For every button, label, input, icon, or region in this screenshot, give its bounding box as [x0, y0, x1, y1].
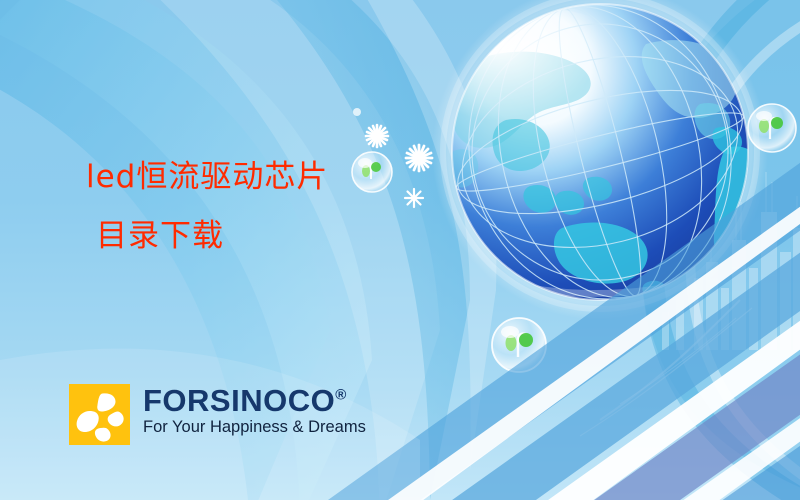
eco-bubble-small: [352, 152, 392, 192]
pinwheel-clover-icon: [69, 384, 130, 445]
logo-tagline: For Your Happiness & Dreams: [143, 418, 366, 437]
logo-text-block: FORSINOCO® For Your Happiness & Dreams: [143, 384, 366, 437]
eco-bubble-right: [748, 104, 796, 152]
company-logo[interactable]: FORSINOCO® For Your Happiness & Dreams: [69, 384, 366, 445]
sparkle-star: [406, 145, 432, 171]
sparkle-dot: [353, 108, 361, 116]
logo-wordmark: FORSINOCO®: [143, 385, 366, 417]
sparkle-star: [366, 125, 388, 147]
marketing-banner: led恒流驱动芯片 目录下载 FORSINOCO® For Your Happi…: [0, 0, 800, 500]
registered-trademark-icon: ®: [335, 387, 346, 404]
logo-wordmark-text: FORSINOCO: [143, 383, 335, 418]
sparkle-star: [405, 189, 423, 207]
